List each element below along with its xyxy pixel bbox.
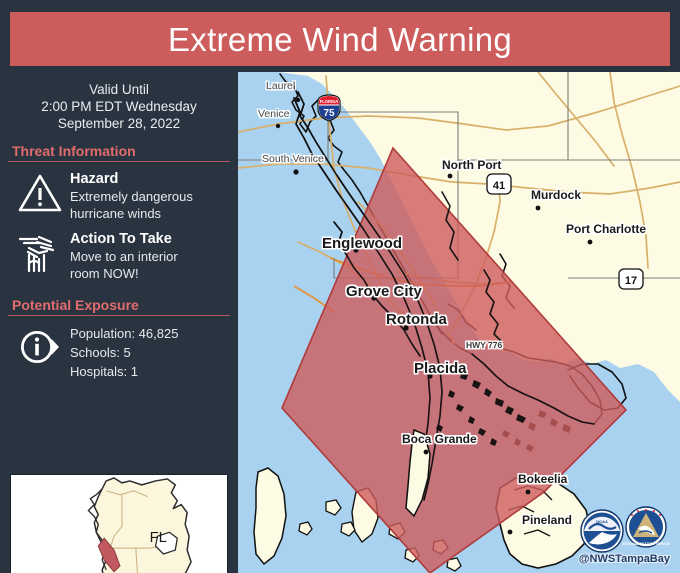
action-title: Action To Take <box>70 231 230 248</box>
warning-graphic: Extreme Wind Warning Valid Until 2:00 PM… <box>0 0 680 573</box>
svg-text:NOAA: NOAA <box>596 519 608 524</box>
main-map[interactable]: Laurel Venice South Venice North Port Mu… <box>238 72 680 573</box>
exposure-population: Population: 46,825 <box>70 324 230 343</box>
warning-banner: Extreme Wind Warning <box>10 12 670 66</box>
hazard-title: Hazard <box>70 171 230 188</box>
svg-text:NATIONAL WEATHER SERVICE: NATIONAL WEATHER SERVICE <box>622 542 670 546</box>
info-circle-icon <box>12 324 68 366</box>
nws-office-handle: @NWSTampaBay <box>579 553 670 565</box>
action-desc-line2: room NOW! <box>70 266 230 282</box>
action-desc-line1: Move to an interior <box>70 249 230 265</box>
exposure-schools: Schools: 5 <box>70 343 230 362</box>
national-weather-service-logo: NATIONAL WEATHER SERVICE <box>622 507 670 547</box>
page-title: Extreme Wind Warning <box>168 23 512 56</box>
hazard-desc-line1: Extremely dangerous <box>70 189 230 205</box>
noaa-logo: NOAA <box>581 510 623 552</box>
potential-exposure-heading: Potential Exposure <box>8 297 230 316</box>
exposure-hospitals: Hospitals: 1 <box>70 362 230 381</box>
exposure-row: Population: 46,825 Schools: 5 Hospitals:… <box>8 324 230 381</box>
agency-logos: NOAA NATIONAL WEATHER SERVICE <box>572 499 676 571</box>
info-sidebar: Valid Until 2:00 PM EDT Wednesday Septem… <box>0 72 238 573</box>
hazard-row: Hazard Extremely dangerous hurricane win… <box>8 171 230 222</box>
action-row: Action To Take Move to an interior room … <box>8 231 230 282</box>
shelter-indoors-icon <box>12 231 68 275</box>
inset-state-label: FL <box>150 530 167 546</box>
valid-until-time: 2:00 PM EDT Wednesday <box>8 98 230 115</box>
hazard-desc-line2: hurricane winds <box>70 206 230 222</box>
valid-until-block: Valid Until 2:00 PM EDT Wednesday Septem… <box>8 72 230 132</box>
warning-triangle-icon <box>12 171 68 213</box>
threat-information-heading: Threat Information <box>8 143 230 162</box>
valid-until-date: September 28, 2022 <box>8 115 230 132</box>
valid-until-label: Valid Until <box>8 81 230 98</box>
locator-inset-map: FL <box>10 474 228 573</box>
